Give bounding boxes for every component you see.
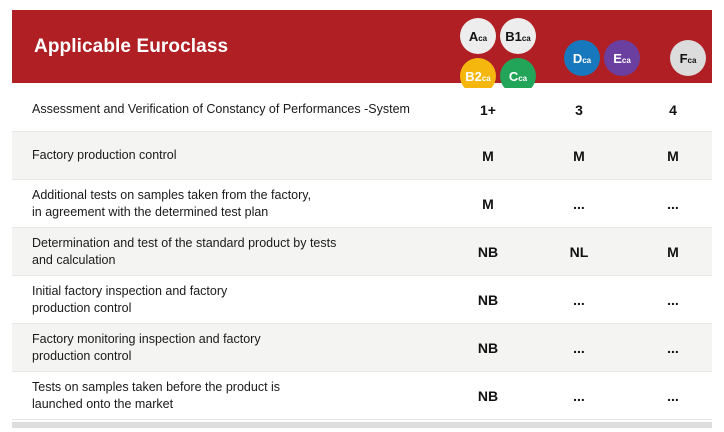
page-title: Applicable Euroclass — [34, 36, 228, 58]
euroclass-table-page: Applicable Euroclass AcaB1caB2caCca DcaE… — [0, 0, 724, 432]
table-row: Additional tests on samples taken from t… — [12, 180, 712, 228]
avcp-table: Assessment and Verification of Constancy… — [12, 88, 712, 420]
row-value-col1: NB — [452, 340, 524, 356]
row-label-line1: Assessment and Verification of Constancy… — [32, 102, 410, 116]
row-label-line2: production control — [32, 300, 446, 317]
row-label-line1: Initial factory inspection and factory — [32, 284, 227, 298]
euroclass-badge-group-f: Fca — [670, 40, 706, 76]
table-row: Factory monitoring inspection and factor… — [12, 324, 712, 372]
row-value-col1: M — [452, 196, 524, 212]
row-label-line1: Additional tests on samples taken from t… — [32, 188, 311, 202]
row-value-col1: 1+ — [452, 102, 524, 118]
table-row: Tests on samples taken before the produc… — [12, 372, 712, 420]
row-value-col1: NB — [452, 244, 524, 260]
badge-sub-label: ca — [582, 57, 591, 65]
badge-main-label: C — [509, 70, 518, 83]
row-value-col2: 3 — [524, 102, 634, 118]
row-label: Factory monitoring inspection and factor… — [12, 331, 452, 365]
badge-sub-label: ca — [482, 75, 491, 83]
row-value-col3: ... — [634, 196, 712, 212]
badge-main-label: F — [680, 52, 688, 65]
row-label-line1: Tests on samples taken before the produc… — [32, 380, 280, 394]
badge-sub-label: ca — [518, 75, 527, 83]
badge-sub-label: ca — [522, 35, 531, 43]
row-value-col2: ... — [524, 292, 634, 308]
row-value-col3: M — [634, 148, 712, 164]
row-value-col3: M — [634, 244, 712, 260]
row-label-line2: and calculation — [32, 252, 446, 269]
euroclass-badge-eca: Eca — [604, 40, 640, 76]
table-row: Factory production controlMMM — [12, 132, 712, 180]
row-value-col3: 4 — [634, 102, 712, 118]
row-label-line2: launched onto the market — [32, 396, 446, 413]
row-value-col3: ... — [634, 292, 712, 308]
table-row: Assessment and Verification of Constancy… — [12, 88, 712, 132]
row-value-col1: NB — [452, 388, 524, 404]
row-label-line2: production control — [32, 348, 446, 365]
euroclass-badge-group-ab: AcaB1caB2caCca — [460, 18, 536, 94]
euroclass-badge-group-de: DcaEca — [564, 40, 640, 76]
row-label: Additional tests on samples taken from t… — [12, 187, 452, 221]
euroclass-badge-fca: Fca — [670, 40, 706, 76]
footer-divider — [12, 422, 712, 428]
table-row: Initial factory inspection and factorypr… — [12, 276, 712, 324]
row-value-col2: ... — [524, 196, 634, 212]
badge-main-label: D — [573, 52, 582, 65]
row-value-col1: M — [452, 148, 524, 164]
row-label: Initial factory inspection and factorypr… — [12, 283, 452, 317]
row-label: Tests on samples taken before the produc… — [12, 379, 452, 413]
header-banner: Applicable Euroclass AcaB1caB2caCca DcaE… — [12, 10, 712, 83]
badge-sub-label: ca — [688, 57, 697, 65]
badge-main-label: B2 — [465, 70, 482, 83]
badge-sub-label: ca — [478, 35, 487, 43]
table-row: Determination and test of the standard p… — [12, 228, 712, 276]
row-label-line1: Factory monitoring inspection and factor… — [32, 332, 261, 346]
euroclass-badge-aca: Aca — [460, 18, 496, 54]
badge-main-label: B1 — [505, 30, 522, 43]
badge-main-label: A — [469, 30, 478, 43]
row-value-col3: ... — [634, 388, 712, 404]
row-value-col2: NL — [524, 244, 634, 260]
euroclass-badge-dca: Dca — [564, 40, 600, 76]
row-label-line1: Factory production control — [32, 148, 177, 162]
row-label-line2: in agreement with the determined test pl… — [32, 204, 446, 221]
badge-main-label: E — [613, 52, 622, 65]
row-value-col2: M — [524, 148, 634, 164]
row-value-col1: NB — [452, 292, 524, 308]
badge-sub-label: ca — [622, 57, 631, 65]
row-value-col2: ... — [524, 388, 634, 404]
row-label-line1: Determination and test of the standard p… — [32, 236, 336, 250]
row-value-col2: ... — [524, 340, 634, 356]
row-value-col3: ... — [634, 340, 712, 356]
row-label: Assessment and Verification of Constancy… — [12, 101, 452, 118]
euroclass-badge-b1ca: B1ca — [500, 18, 536, 54]
row-label: Factory production control — [12, 147, 452, 164]
row-label: Determination and test of the standard p… — [12, 235, 452, 269]
